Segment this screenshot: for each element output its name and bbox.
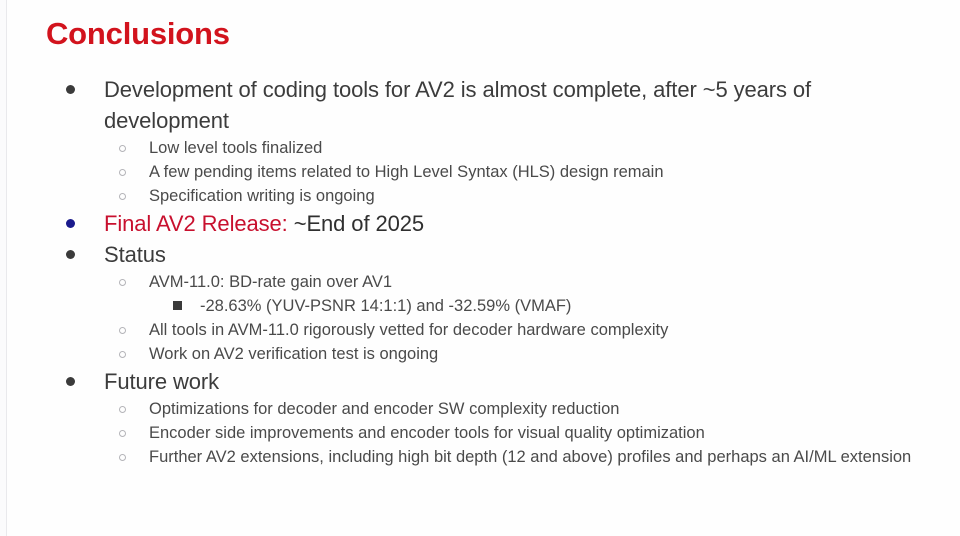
bullet-development-text: Development of coding tools for AV2 is a…: [104, 74, 920, 136]
disc-bullet-icon: [66, 366, 75, 386]
bullet-avm-bdrate-text: AVM-11.0: BD-rate gain over AV1: [149, 270, 920, 294]
bullet-bdrate-numbers: -28.63% (YUV-PSNR 14:1:1) and -32.59% (V…: [0, 294, 960, 318]
bullet-verification-test: Work on AV2 verification test is ongoing: [0, 342, 960, 366]
bullet-avm-bdrate: AVM-11.0: BD-rate gain over AV1: [0, 270, 960, 294]
bullet-final-release-label: Final AV2 Release:: [104, 211, 288, 236]
slide-body: Development of coding tools for AV2 is a…: [0, 74, 960, 469]
bullet-hardware-vetting: All tools in AVM-11.0 rigorously vetted …: [0, 318, 960, 342]
bullet-av2-extensions-text: Further AV2 extensions, including high b…: [149, 445, 920, 469]
bullet-encoder-improvements: Encoder side improvements and encoder to…: [0, 421, 960, 445]
circle-bullet-icon: [119, 318, 126, 334]
circle-bullet-icon: [119, 270, 126, 286]
bullet-status: Status: [0, 239, 960, 270]
circle-bullet-icon: [119, 184, 126, 200]
circle-bullet-icon: [119, 342, 126, 358]
bullet-low-level-tools: Low level tools finalized: [0, 136, 960, 160]
bullet-future-work-text: Future work: [104, 366, 920, 397]
bullet-bdrate-numbers-text: -28.63% (YUV-PSNR 14:1:1) and -32.59% (V…: [200, 294, 920, 318]
circle-bullet-icon: [119, 397, 126, 413]
bullet-final-release: Final AV2 Release: ~End of 2025: [0, 208, 960, 239]
slide-canvas: Conclusions Development of coding tools …: [0, 0, 960, 536]
bullet-spec-writing: Specification writing is ongoing: [0, 184, 960, 208]
bullet-encoder-improvements-text: Encoder side improvements and encoder to…: [149, 421, 920, 445]
bullet-sw-optimizations: Optimizations for decoder and encoder SW…: [0, 397, 960, 421]
bullet-spec-writing-text: Specification writing is ongoing: [149, 184, 920, 208]
disc-bullet-icon: [66, 239, 75, 259]
bullet-development: Development of coding tools for AV2 is a…: [0, 74, 960, 136]
bullet-pending-hls: A few pending items related to High Leve…: [0, 160, 960, 184]
bullet-low-level-tools-text: Low level tools finalized: [149, 136, 920, 160]
circle-bullet-icon: [119, 445, 126, 461]
bullet-status-text: Status: [104, 239, 920, 270]
bullet-final-release-text: Final AV2 Release: ~End of 2025: [104, 208, 920, 239]
circle-bullet-icon: [119, 421, 126, 437]
bullet-sw-optimizations-text: Optimizations for decoder and encoder SW…: [149, 397, 920, 421]
disc-bullet-icon-blue: [66, 208, 75, 228]
bullet-av2-extensions: Further AV2 extensions, including high b…: [0, 445, 960, 469]
square-bullet-icon: [173, 294, 182, 310]
bullet-hardware-vetting-text: All tools in AVM-11.0 rigorously vetted …: [149, 318, 920, 342]
circle-bullet-icon: [119, 160, 126, 176]
bullet-pending-hls-text: A few pending items related to High Leve…: [149, 160, 920, 184]
bullet-verification-test-text: Work on AV2 verification test is ongoing: [149, 342, 920, 366]
bullet-future-work: Future work: [0, 366, 960, 397]
disc-bullet-icon: [66, 74, 75, 94]
page-title: Conclusions: [46, 17, 230, 51]
bullet-final-release-value: ~End of 2025: [288, 211, 424, 236]
circle-bullet-icon: [119, 136, 126, 152]
